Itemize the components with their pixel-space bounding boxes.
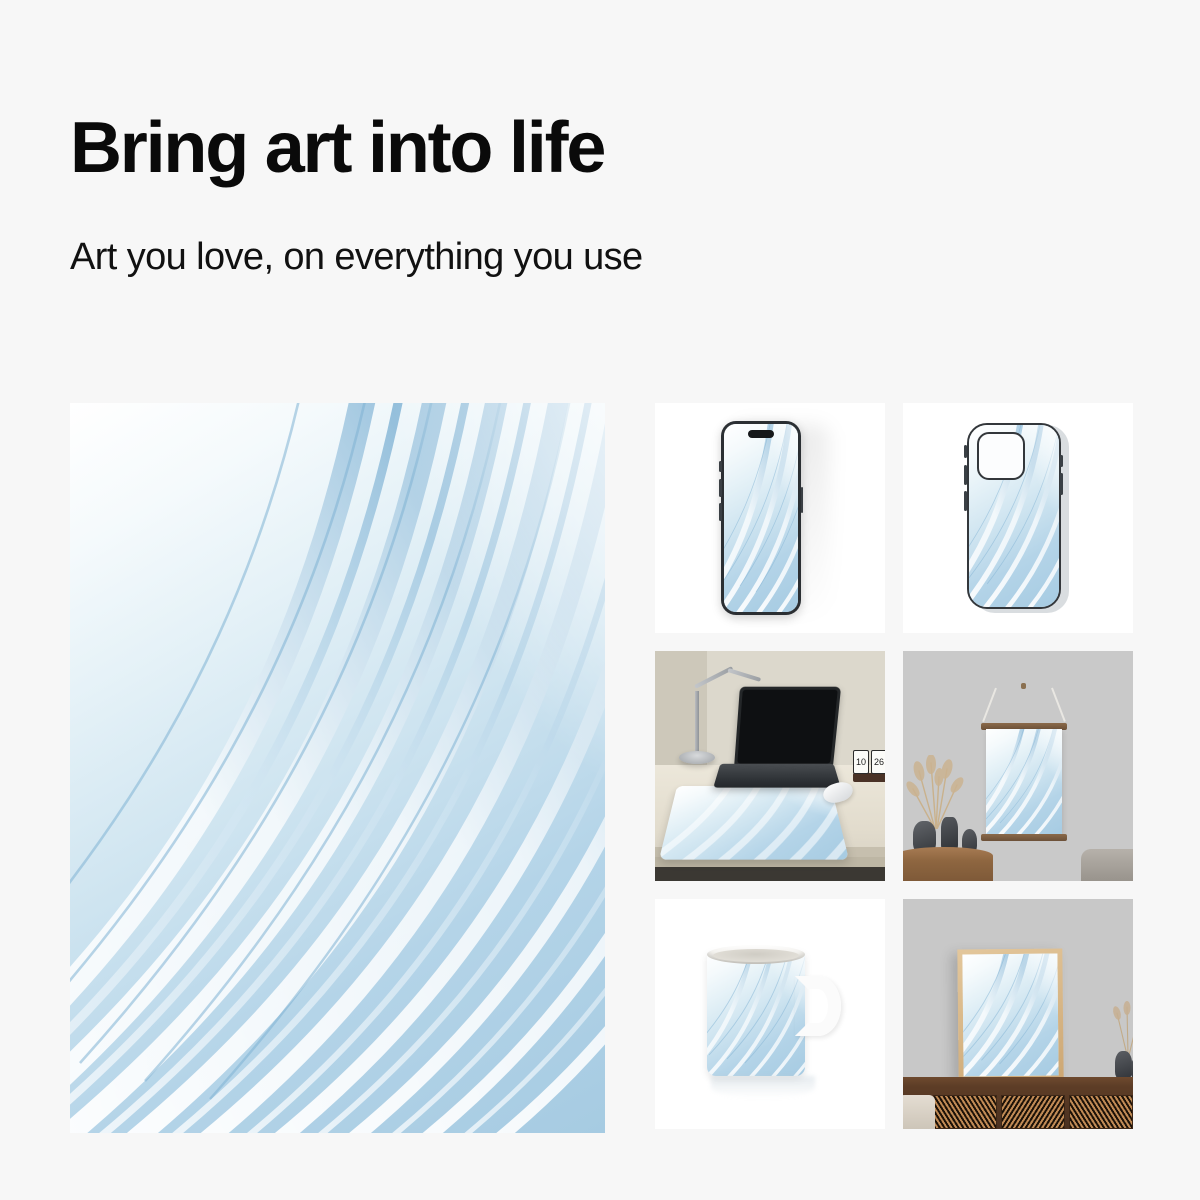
dark-vase-small (1131, 1057, 1133, 1079)
wooden-picture-frame (957, 948, 1063, 1081)
page-root: Bring art into life Art you love, on eve… (0, 0, 1200, 1200)
phone-screen (724, 424, 798, 612)
desk-mat-sheen (659, 786, 849, 860)
desk-lamp-stem (695, 691, 699, 753)
mug-mockup[interactable] (655, 899, 885, 1129)
upholstered-chair (903, 1095, 935, 1129)
pampas-grass (905, 755, 967, 829)
flip-calendar: 10 26 (853, 750, 885, 774)
calendar-day-card: 26 (871, 750, 885, 774)
dried-grass-decor (1109, 999, 1133, 1055)
mug-art-sheen (707, 951, 805, 1076)
calendar-month-card: 10 (853, 750, 869, 774)
case-volume-down-cutout (964, 491, 967, 511)
phone-volume-down-button (719, 503, 722, 521)
hanging-poster-sheen (986, 729, 1062, 835)
sofa (1081, 849, 1133, 881)
page-title: Bring art into life (70, 112, 970, 184)
sideboard-door-left (933, 1095, 997, 1129)
flip-calendar-stand (853, 773, 885, 782)
phone-wallpaper-sheen (724, 424, 798, 612)
main-artwork-preview[interactable] (70, 403, 605, 1133)
case-mute-cutout (964, 445, 967, 458)
framed-poster-mockup[interactable] (903, 899, 1133, 1129)
sideboard-door-right (1069, 1095, 1133, 1129)
phone-power-button (801, 487, 804, 513)
page-subtitle: Art you love, on everything you use (70, 184, 970, 276)
round-side-table (903, 847, 993, 881)
phone-case-mockup[interactable] (903, 403, 1133, 633)
laptop-screen (734, 687, 841, 767)
header: Bring art into life Art you love, on eve… (70, 112, 970, 276)
phone-case-device (967, 423, 1061, 609)
sideboard-doors (933, 1095, 1133, 1129)
mug-handle (795, 976, 841, 1036)
phone-device (721, 421, 801, 615)
case-power-cutout-top (1060, 455, 1063, 467)
phone-dynamic-island (748, 430, 774, 438)
mug-body (707, 951, 805, 1076)
laptop-keyboard-base (713, 764, 841, 788)
laptop-display (737, 690, 837, 764)
case-volume-up-cutout (964, 465, 967, 485)
phone-mute-switch (719, 461, 722, 472)
case-power-cutout (1060, 473, 1063, 495)
artwork-light-sheen (70, 403, 605, 1133)
dark-vase-large (1115, 1051, 1132, 1079)
desk-mat-mockup[interactable]: 10 26 (655, 651, 885, 881)
framed-poster-print (962, 954, 1058, 1077)
framed-poster-sheen (962, 954, 1058, 1077)
case-camera-cutout (977, 432, 1025, 480)
poster-bottom-rail (981, 834, 1067, 841)
poster-wall-hook (1021, 683, 1026, 689)
desk-mat (659, 786, 849, 860)
desk-lamp-base (679, 751, 715, 764)
product-mockup-grid: 10 26 (655, 403, 1133, 1133)
phone-wallpaper-mockup[interactable] (655, 403, 885, 633)
mug-reflection (711, 1076, 815, 1098)
hanging-poster-mockup[interactable] (903, 651, 1133, 881)
sideboard-door-center (1001, 1095, 1065, 1129)
mug-interior (713, 949, 799, 962)
hanging-poster-print (986, 729, 1062, 835)
phone-volume-up-button (719, 479, 722, 497)
